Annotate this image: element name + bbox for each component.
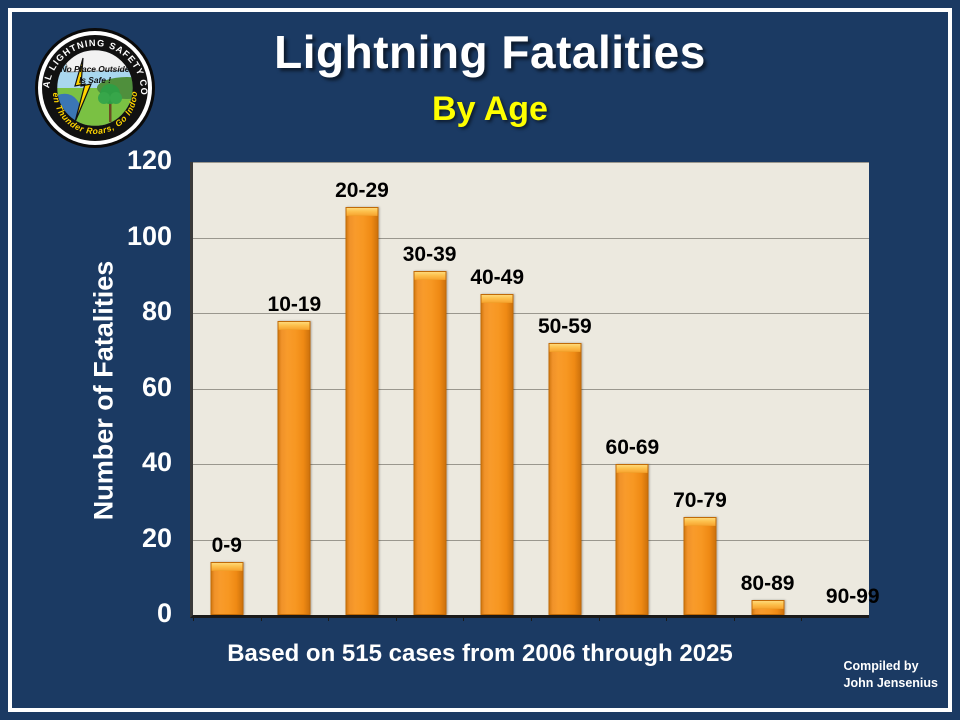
bar[interactable] [683,517,716,615]
y-axis-tick-label: 80 [62,296,172,327]
y-axis-tick-label: 40 [62,447,172,478]
bar-highlight [211,563,242,571]
bar-highlight [279,322,310,330]
page-subtitle: By Age [180,90,800,129]
x-axis-tick [666,615,667,621]
y-axis-tick-label: 120 [62,145,172,176]
x-axis-tick [328,615,329,621]
page-title: Lightning Fatalities [180,25,800,79]
bar-label: 90-99 [793,585,913,609]
x-axis-tick [801,615,802,621]
national-lightning-safety-council-logo: NATIONAL LIGHTNING SAFETY COUNCIL When T… [31,26,159,150]
bar-highlight [617,465,648,473]
y-axis-tick-label: 20 [62,523,172,554]
bar[interactable] [413,271,446,615]
x-axis-tick [531,615,532,621]
bar-slot: 90-99 [801,162,869,615]
x-axis-tick [261,615,262,621]
bar[interactable] [751,600,784,615]
bar-highlight [752,601,783,609]
bar-slot: 80-89 [734,162,802,615]
chart-page: NATIONAL LIGHTNING SAFETY COUNCIL When T… [0,0,960,720]
bar[interactable] [548,343,581,615]
bar[interactable] [616,464,649,615]
x-axis-tick [734,615,735,621]
bar-slot: 40-49 [463,162,531,615]
credit-block: Compiled by John Jensenius [844,658,938,692]
x-axis-tick [599,615,600,621]
x-axis-tick [193,615,194,621]
y-axis-tick-label: 100 [62,221,172,252]
bar-slot: 30-39 [396,162,464,615]
bar-slot: 0-9 [193,162,261,615]
svg-text:No Place Outside: No Place Outside [61,64,130,74]
bar-highlight [346,208,377,216]
bar-slot: 20-29 [328,162,396,615]
y-axis-tick-label: 60 [62,372,172,403]
plot-area: 0-910-1920-2930-3940-4950-5960-6970-7980… [190,162,869,618]
bar-slot: 10-19 [261,162,329,615]
y-axis-tick-label: 0 [62,598,172,629]
bar[interactable] [210,562,243,615]
bar-highlight [549,344,580,352]
x-axis-tick [463,615,464,621]
bar[interactable] [345,207,378,615]
bar-highlight [482,295,513,303]
credit-line-2: John Jensenius [844,675,938,692]
bar[interactable] [278,321,311,615]
credit-line-1: Compiled by [844,658,938,675]
bar-series: 0-910-1920-2930-3940-4950-5960-6970-7980… [193,162,869,615]
bar[interactable] [481,294,514,615]
bar-highlight [684,518,715,526]
bar-slot: 70-79 [666,162,734,615]
bar-slot: 50-59 [531,162,599,615]
x-axis-tick [396,615,397,621]
bar-slot: 60-69 [599,162,667,615]
chart-caption: Based on 515 cases from 2006 through 202… [0,640,960,668]
svg-text:Is Safe !: Is Safe ! [79,75,111,85]
